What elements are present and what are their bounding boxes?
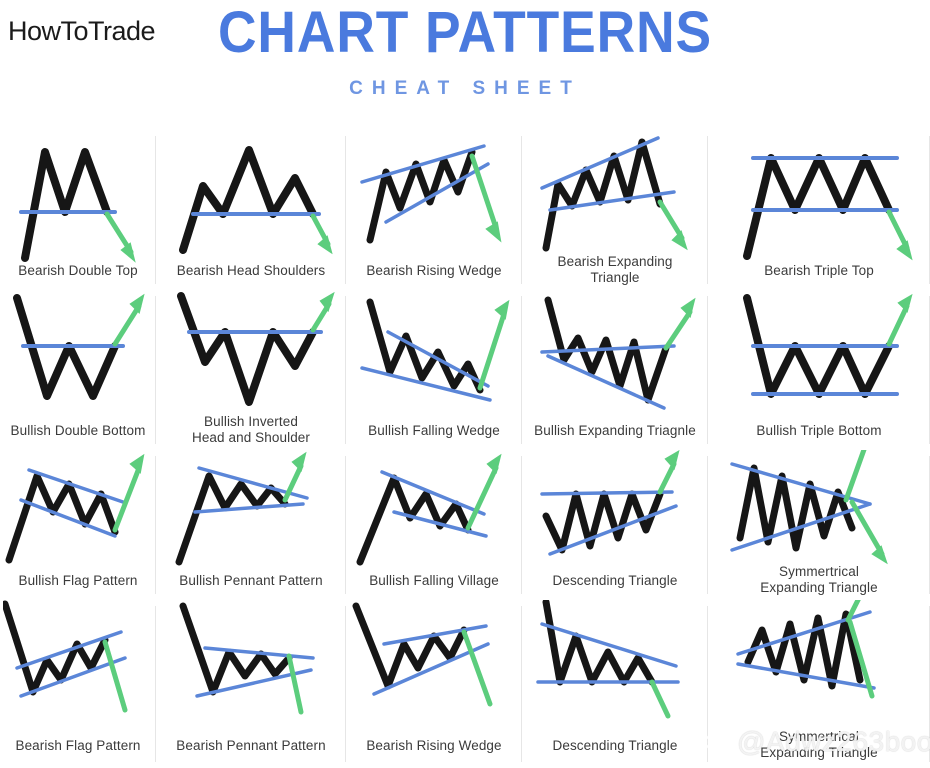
- bullish-falling-village-chart: [348, 450, 520, 575]
- pattern-label: Descending Triangle: [516, 738, 714, 753]
- pattern-label: Bearish Double Top: [0, 263, 162, 278]
- pattern-cell-bearish-rising-wedge[interactable]: Bearish Rising Wedge: [346, 130, 522, 290]
- pattern-label: Bullish Pennant Pattern: [150, 573, 352, 588]
- pattern-cell-bearish-triple-top[interactable]: Bearish Triple Top: [708, 130, 930, 290]
- bearish-double-top-chart: [3, 130, 153, 265]
- pattern-label: Symmertrical Expanding Triangle: [702, 564, 930, 595]
- pattern-label: Bearish Expanding Triangle: [516, 254, 714, 285]
- pattern-label: Descending Triangle: [516, 573, 714, 588]
- bearish-pennant-pattern-chart: [161, 600, 341, 740]
- pattern-label: Bearish Rising Wedge: [340, 263, 528, 278]
- bullish-expanding-triagnle-chart: [524, 290, 706, 425]
- bullish-falling-wedge-chart: [348, 290, 520, 425]
- page-title: CHART PATTERNS: [37, 4, 893, 62]
- descending-triangle-chart: [524, 450, 706, 575]
- bearish-head-shoulders-chart: [161, 130, 341, 265]
- bullish-flag-pattern-chart: [3, 450, 153, 575]
- pattern-cell-descending-triangle-row3[interactable]: Descending Triangle: [522, 450, 708, 600]
- pattern-cell-bearish-head-shoulders[interactable]: Bearish Head Shoulders: [156, 130, 346, 290]
- pattern-label: Bullish Falling Wedge: [340, 423, 528, 438]
- pattern-cell-bullish-triple-bottom[interactable]: Bullish Triple Bottom: [708, 290, 930, 450]
- pattern-cell-bullish-falling-village[interactable]: Bullish Falling Village: [346, 450, 522, 600]
- bullish-triple-bottom-chart: [719, 290, 919, 425]
- pattern-cell-symmetrical-expanding-triangle-row4[interactable]: Symmertrical Expanding Triangle: [708, 600, 930, 768]
- pattern-cell-bullish-double-bottom[interactable]: Bullish Double Bottom: [0, 290, 156, 450]
- bearish-expanding-triangle-chart: [524, 130, 706, 258]
- pattern-label: Bullish Flag Pattern: [0, 573, 162, 588]
- pattern-label: Bearish Flag Pattern: [0, 738, 162, 753]
- bearish-flag-pattern-chart: [3, 600, 153, 740]
- pattern-label: Bearish Head Shoulders: [150, 263, 352, 278]
- pattern-label: Bullish Expanding Triagnle: [516, 423, 714, 438]
- page-subtitle: CHEAT SHEET: [0, 78, 930, 100]
- pattern-cell-bearish-rising-wedge-row4[interactable]: Bearish Rising Wedge: [346, 600, 522, 768]
- cheat-sheet-page: HowToTrade CHART PATTERNS CHEAT SHEET Be…: [0, 0, 930, 768]
- bullish-inverted-head-and-shoulder-chart: [161, 290, 341, 418]
- bearish-rising-wedge-chart: [348, 130, 520, 265]
- bullish-double-bottom-chart: [3, 290, 153, 425]
- bearish-triple-top-chart: [719, 130, 919, 265]
- pattern-cell-bullish-flag[interactable]: Bullish Flag Pattern: [0, 450, 156, 600]
- bullish-pennant-pattern-chart: [161, 450, 341, 575]
- pattern-label: Bullish Triple Bottom: [702, 423, 930, 438]
- symmertrical-expanding-triangle-row4-chart: [714, 600, 924, 730]
- pattern-cell-symmetrical-expanding-triangle-row3[interactable]: Symmertrical Expanding Triangle: [708, 450, 930, 600]
- pattern-label: Bearish Rising Wedge: [340, 738, 528, 753]
- pattern-label: Bullish Falling Village: [340, 573, 528, 588]
- pattern-cell-bearish-double-top[interactable]: Bearish Double Top: [0, 130, 156, 290]
- pattern-label: Bullish Inverted Head and Shoulder: [150, 414, 352, 445]
- pattern-label: Symmertrical Expanding Triangle: [702, 729, 930, 760]
- descending-triangle-row4-chart: [524, 600, 706, 740]
- pattern-label: Bearish Triple Top: [702, 263, 930, 278]
- pattern-cell-bearish-expanding-triangle[interactable]: Bearish Expanding Triangle: [522, 130, 708, 290]
- bearish-rising-wedge-row4-chart: [348, 600, 520, 740]
- pattern-cell-bullish-falling-wedge[interactable]: Bullish Falling Wedge: [346, 290, 522, 450]
- page-header: HowToTrade CHART PATTERNS CHEAT SHEET: [0, 0, 930, 130]
- pattern-label: Bullish Double Bottom: [0, 423, 162, 438]
- pattern-cell-bullish-inverted-head-shoulder[interactable]: Bullish Inverted Head and Shoulder: [156, 290, 346, 450]
- symmertrical-expanding-triangle-chart: [714, 450, 924, 570]
- pattern-cell-bearish-flag[interactable]: Bearish Flag Pattern: [0, 600, 156, 768]
- pattern-cell-bullish-expanding-triangle[interactable]: Bullish Expanding Triagnle: [522, 290, 708, 450]
- pattern-cell-bullish-pennant[interactable]: Bullish Pennant Pattern: [156, 450, 346, 600]
- pattern-cell-bearish-pennant[interactable]: Bearish Pennant Pattern: [156, 600, 346, 768]
- pattern-label: Bearish Pennant Pattern: [150, 738, 352, 753]
- pattern-grid: Bearish Double Top Bearish Head Shoulder…: [0, 130, 930, 768]
- pattern-cell-descending-triangle-row4[interactable]: Descending Triangle: [522, 600, 708, 768]
